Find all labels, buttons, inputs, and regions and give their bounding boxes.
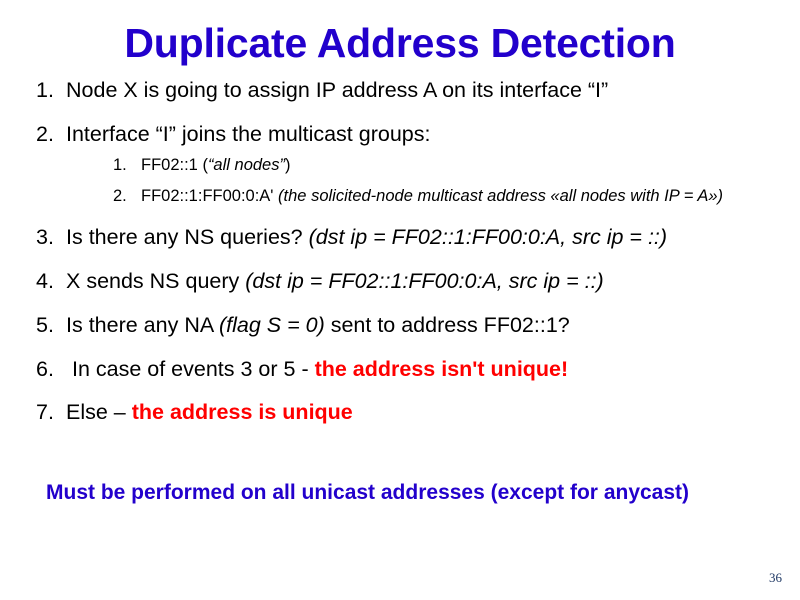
sublist-item-2: 2.FF02::1:FF00:0:A' (the solicited-node … xyxy=(113,186,778,206)
sublist-item-text: FF02::1 ( xyxy=(141,156,208,174)
list-item-text: X sends NS query xyxy=(66,269,245,293)
list-item-emphasis: the address isn't unique! xyxy=(315,357,569,381)
sublist-item-text-after: ) xyxy=(285,156,291,174)
list-item-text: Node X is going to assign IP address A o… xyxy=(66,78,608,102)
footer-note-text: Must be performed on all unicast address… xyxy=(46,481,689,504)
list-item-7: 7.Else – the address is unique xyxy=(36,400,778,425)
sublist-marker: 2. xyxy=(113,186,137,206)
page-title: Duplicate Address Detection xyxy=(0,22,800,65)
list-item-text: Is there any NA xyxy=(66,313,219,337)
list-item-text: Interface “I” joins the multicast groups… xyxy=(66,122,430,146)
page-number-text: 36 xyxy=(769,570,782,585)
list-item-emphasis: the address is unique xyxy=(132,400,353,424)
list-marker: 2. xyxy=(36,122,62,147)
steps-list: 1. Node X is going to assign IP address … xyxy=(36,78,778,444)
sublist-item-1: 1.FF02::1 (“all nodes”) xyxy=(113,155,778,175)
list-item-2: 2. Interface “I” joins the multicast gro… xyxy=(36,122,778,207)
list-item-1: 1. Node X is going to assign IP address … xyxy=(36,78,778,103)
list-item-note: (dst ip = FF02::1:FF00:0:A, src ip = ::) xyxy=(309,225,667,249)
slide-canvas: Duplicate Address Detection 1. Node X is… xyxy=(0,0,800,600)
list-item-note: (flag S = 0) xyxy=(219,313,325,337)
list-item-text: In case of events 3 or 5 - xyxy=(66,357,315,381)
list-marker: 5. xyxy=(36,313,62,338)
list-marker: 3. xyxy=(36,225,62,250)
sublist-item-text: FF02::1:FF00:0:A' xyxy=(141,187,278,205)
list-marker: 1. xyxy=(36,78,62,103)
sublist-item-note: (the solicited-node multicast address «a… xyxy=(278,187,723,205)
list-marker: 7. xyxy=(36,400,62,425)
page-number: 36 xyxy=(769,570,782,586)
list-item-note: (dst ip = FF02::1:FF00:0:A, src ip = ::) xyxy=(245,269,603,293)
list-item-3: 3.Is there any NS queries? (dst ip = FF0… xyxy=(36,225,778,250)
list-item-5: 5.Is there any NA (flag S = 0) sent to a… xyxy=(36,313,778,338)
list-item-4: 4.X sends NS query (dst ip = FF02::1:FF0… xyxy=(36,269,778,294)
list-item-6: 6. In case of events 3 or 5 - the addres… xyxy=(36,357,778,382)
list-marker: 6. xyxy=(36,357,62,382)
page-title-text: Duplicate Address Detection xyxy=(124,20,675,66)
sublist-item-note: “all nodes” xyxy=(208,156,285,174)
list-item-text-after: sent to address FF02::1? xyxy=(325,313,570,337)
list-marker: 4. xyxy=(36,269,62,294)
sublist-marker: 1. xyxy=(113,155,137,175)
footer-note: Must be performed on all unicast address… xyxy=(46,480,774,506)
multicast-groups-sublist: 1.FF02::1 (“all nodes”) 2.FF02::1:FF00:0… xyxy=(66,155,778,206)
list-item-text: Is there any NS queries? xyxy=(66,225,309,249)
list-item-text: Else – xyxy=(66,400,132,424)
